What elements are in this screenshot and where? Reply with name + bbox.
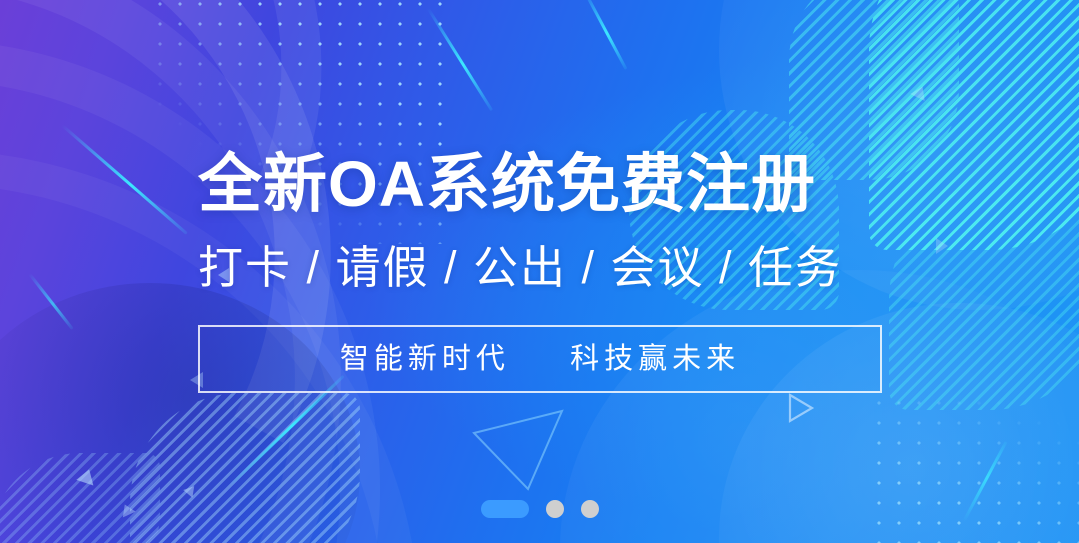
carousel-dot-3[interactable] [581,500,599,518]
banner-content: 全新OA系统免费注册 打卡 / 请假 / 公出 / 会议 / 任务 智能新时代 … [0,0,1079,543]
tagline-text: 智能新时代 科技赢未来 [340,342,740,376]
tagline-right: 科技赢未来 [570,343,740,375]
tagline-box: 智能新时代 科技赢未来 [198,325,882,393]
tagline-left: 智能新时代 [340,343,510,375]
carousel-dot-1[interactable] [481,500,529,518]
banner-headline: 全新OA系统免费注册 [198,146,898,222]
carousel-indicators[interactable] [0,500,1079,518]
banner-subline: 打卡 / 请假 / 公出 / 会议 / 任务 [198,240,898,296]
promo-banner-slide[interactable]: 全新OA系统免费注册 打卡 / 请假 / 公出 / 会议 / 任务 智能新时代 … [0,0,1079,543]
carousel-dot-2[interactable] [546,500,564,518]
